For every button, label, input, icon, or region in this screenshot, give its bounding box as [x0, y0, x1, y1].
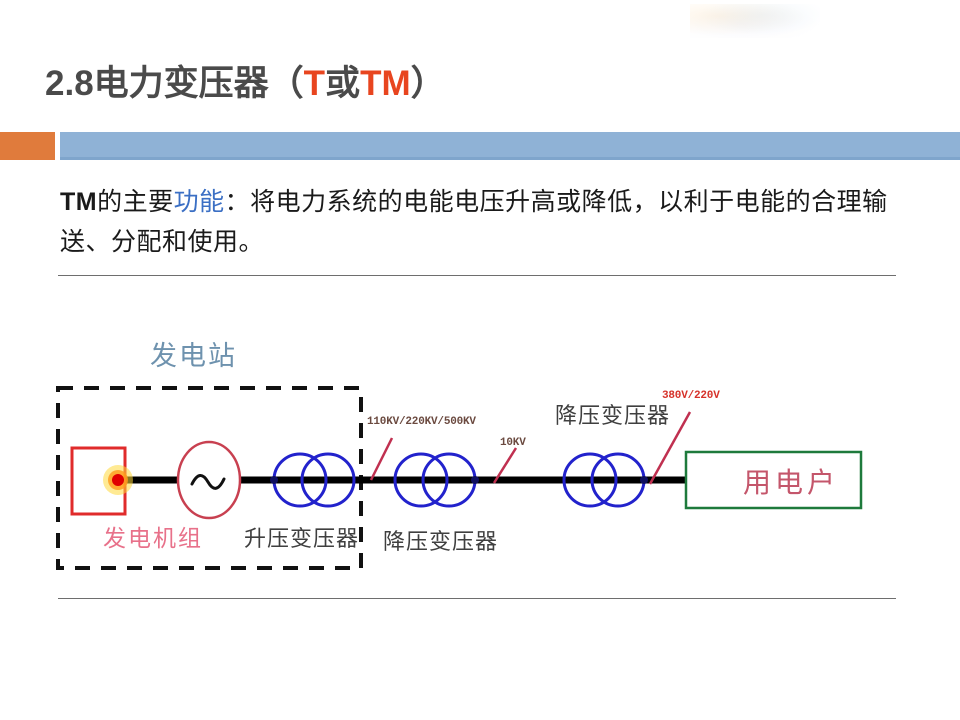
title-number: 2.8	[45, 64, 94, 103]
body-paragraph: TM的主要功能：将电力系统的电能电压升高或降低，以利于电能的合理输送、分配和使用…	[60, 182, 890, 263]
label-step-down-transformer-1: 降压变压器	[383, 524, 498, 556]
body-segment-1: 的主要	[97, 189, 174, 216]
title-text-b: 或	[325, 64, 360, 103]
slide-canvas: 2.8电力变压器（T或TM） TM的主要功能：将电力系统的电能电压升高或降低，以…	[0, 0, 960, 720]
title-text-c: ）	[411, 64, 446, 103]
body-keyword-function: 功能	[174, 189, 225, 216]
glow-node-core	[112, 474, 124, 486]
label-step-up-transformer: 升压变压器	[244, 521, 359, 553]
generator-symbol-circle	[178, 442, 240, 518]
bus-node-step-down-2	[640, 476, 648, 484]
label-voltage-medium: 10KV	[500, 437, 526, 449]
title-highlight-tm: TM	[360, 64, 411, 103]
bus-node-step-up	[270, 476, 278, 484]
label-power-station: 发电站	[150, 334, 237, 373]
title-highlight-t: T	[304, 64, 325, 103]
label-step-down-transformer-2: 降压变压器	[555, 398, 670, 430]
accent-bar-blue	[60, 132, 960, 160]
watermark-artifact	[690, 4, 820, 38]
title-text-a: 电力变压器（	[94, 64, 304, 103]
label-generator-unit: 发电机组	[103, 519, 203, 553]
label-consumer: 用电户	[743, 461, 839, 501]
pointer-hv-voltage	[371, 438, 392, 480]
page-title: 2.8电力变压器（T或TM）	[45, 55, 446, 106]
accent-block-orange	[0, 132, 55, 160]
divider-top	[58, 275, 896, 276]
label-voltage-high: 110KV/220KV/500KV	[367, 416, 476, 428]
bus-node-step-down-1	[471, 476, 479, 484]
label-voltage-low: 380V/220V	[662, 390, 720, 402]
body-lead-tm: TM	[60, 188, 97, 216]
